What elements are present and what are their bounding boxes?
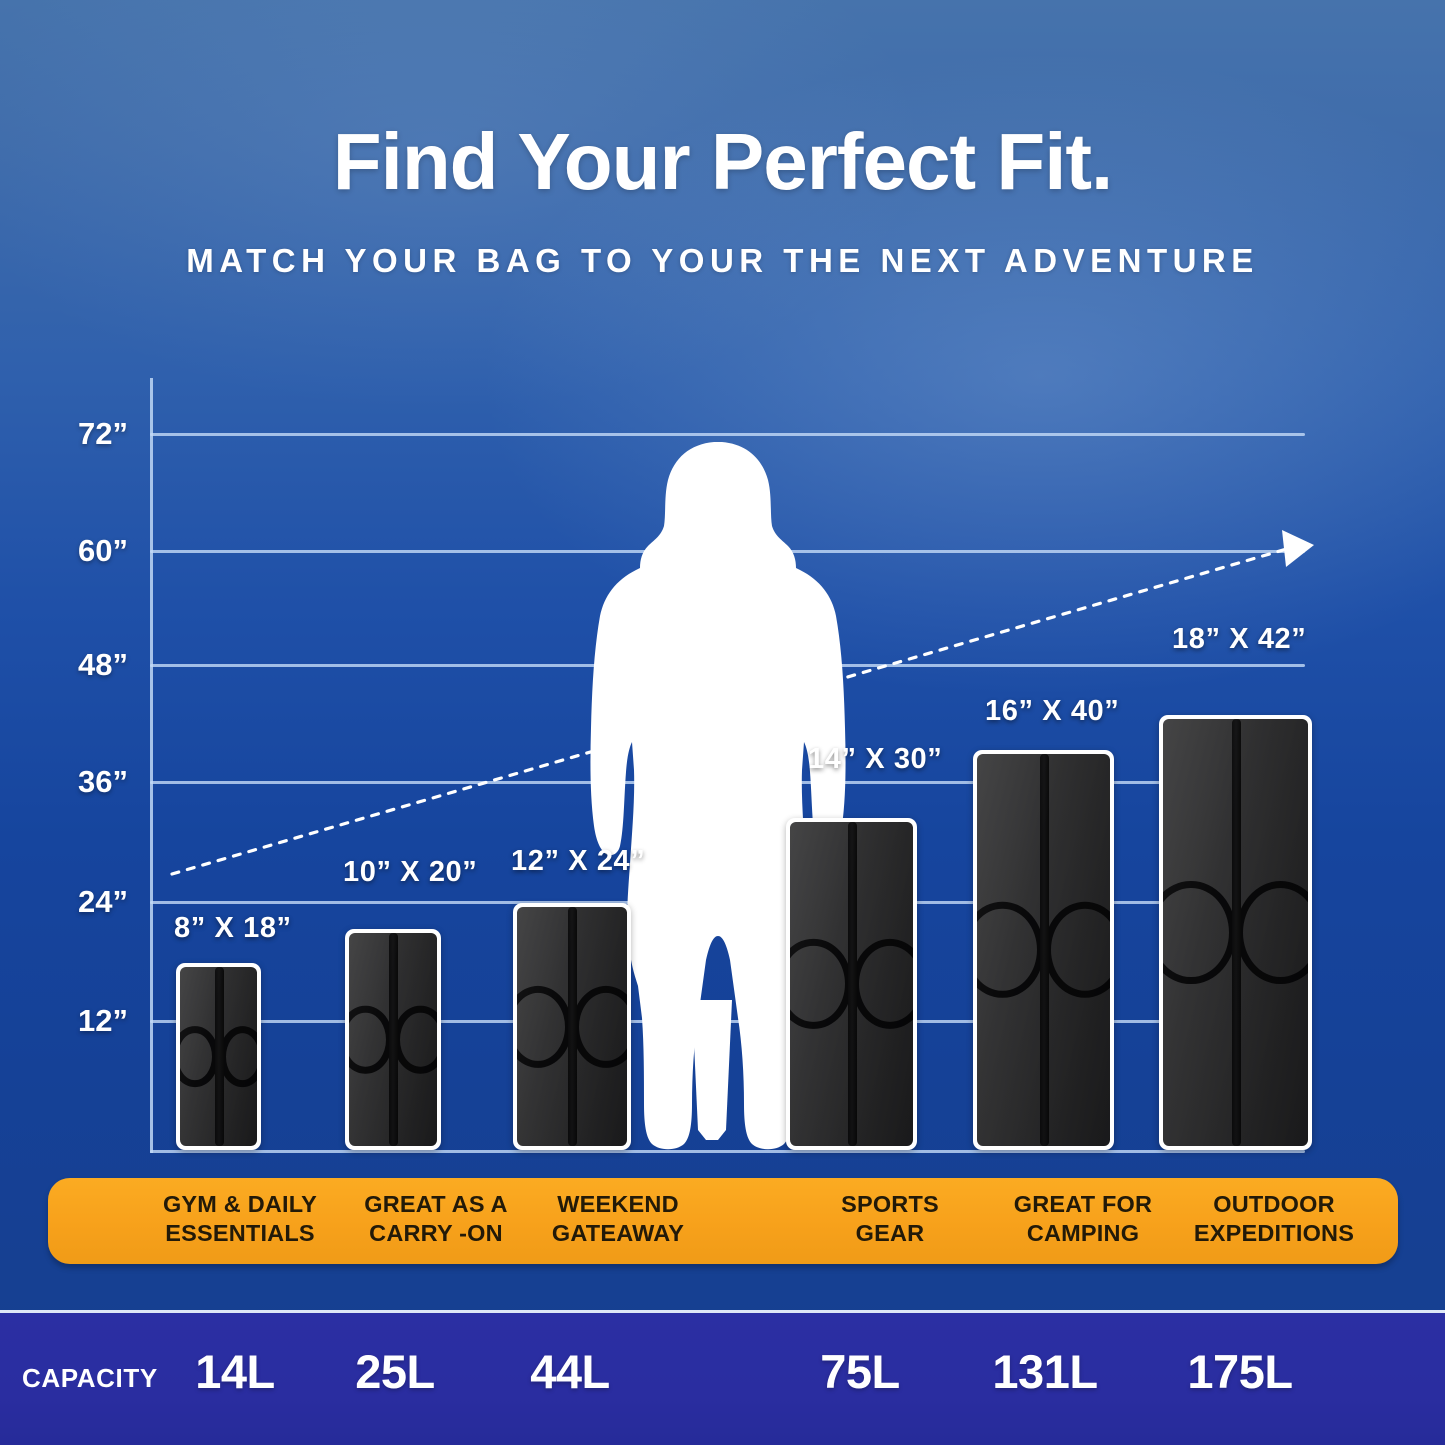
bar-dim-label-2: 10” X 20” [343,856,477,889]
category-label-6[interactable]: OUTDOOR EXPEDITIONS [1163,1190,1385,1247]
category-line-2b: CARRY -ON [332,1219,540,1248]
bar-dim-label-5: 16” X 40” [985,695,1119,728]
bag-sheen [349,933,437,1146]
bag-sheen [977,754,1110,1146]
category-line-5b: CAMPING [978,1219,1188,1248]
bag-sheen [517,907,627,1146]
category-line-1b: ESSENTIALS [130,1219,350,1248]
bar-dim-label-4: 14” X 30” [808,743,942,776]
bag-sheen [790,822,913,1146]
bar-4[interactable] [786,818,917,1150]
bar-5[interactable] [973,750,1114,1150]
category-line-4a: SPORTS [790,1190,990,1219]
capacity-value-4: 75L [780,1344,940,1399]
duffel-bag-icon-2 [349,933,437,1146]
category-line-6b: EXPEDITIONS [1163,1219,1385,1248]
category-line-5a: GREAT FOR [978,1190,1188,1219]
duffel-bag-icon-5 [977,754,1110,1146]
y-axis-line [150,378,153,1153]
capacity-value-2: 25L [315,1344,475,1399]
bar-3[interactable] [513,903,631,1150]
bag-sheen [1163,719,1308,1146]
capacity-value-6: 175L [1145,1344,1335,1399]
y-tick-72: 72” [28,416,128,452]
category-line-6a: OUTDOOR [1163,1190,1385,1219]
bar-dim-label-6: 18” X 42” [1172,623,1306,656]
bag-sheen [180,967,257,1146]
capacity-value-3: 44L [490,1344,650,1399]
category-line-3b: GATEAWAY [514,1219,722,1248]
y-tick-60: 60” [28,533,128,569]
capacity-label: CAPACITY [22,1363,158,1394]
category-line-2a: GREAT AS A [332,1190,540,1219]
category-line-4b: GEAR [790,1219,990,1248]
gridline-72 [150,433,1305,436]
category-label-5[interactable]: GREAT FOR CAMPING [978,1190,1188,1247]
duffel-bag-icon-4 [790,822,913,1146]
category-label-2[interactable]: GREAT AS A CARRY -ON [332,1190,540,1247]
y-tick-12: 12” [28,1003,128,1039]
category-band: GYM & DAILY ESSENTIALS GREAT AS A CARRY … [48,1178,1398,1264]
category-label-4[interactable]: SPORTS GEAR [790,1190,990,1247]
duffel-bag-icon-3 [517,907,627,1146]
bar-6[interactable] [1159,715,1312,1150]
category-label-3[interactable]: WEEKEND GATEAWAY [514,1190,722,1247]
trend-arrowhead-icon [1282,530,1314,567]
duffel-bag-icon-1 [180,967,257,1146]
capacity-footer: CAPACITY 14L 25L 44L 75L 131L 175L [0,1310,1445,1445]
duffel-bag-icon-6 [1163,719,1308,1146]
category-line-3a: WEEKEND [514,1190,722,1219]
y-tick-36: 36” [28,764,128,800]
bar-dim-label-1: 8” X 18” [174,912,292,945]
infographic-canvas: Find Your Perfect Fit. MATCH YOUR BAG TO… [0,0,1445,1445]
capacity-value-5: 131L [955,1344,1135,1399]
category-line-1a: GYM & DAILY [130,1190,350,1219]
bar-2[interactable] [345,929,441,1150]
y-tick-24: 24” [28,884,128,920]
y-tick-48: 48” [28,647,128,683]
bar-1[interactable] [176,963,261,1150]
capacity-value-1: 14L [155,1344,315,1399]
bar-dim-label-3: 12” X 24” [511,845,645,878]
category-label-1[interactable]: GYM & DAILY ESSENTIALS [130,1190,350,1247]
